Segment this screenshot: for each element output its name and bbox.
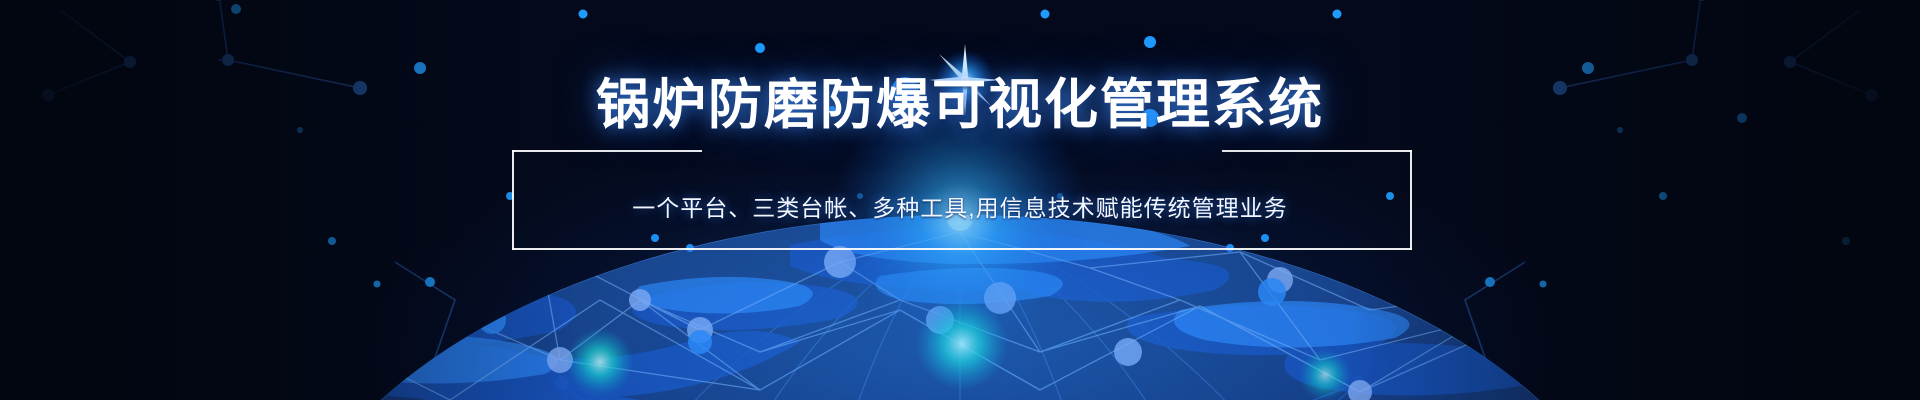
hero-banner: 锅炉防磨防爆可视化管理系统 一个平台、三类台帐、多种工具,用信息技术赋能传统管理… <box>0 0 1920 400</box>
banner-title: 锅炉防磨防爆可视化管理系统 <box>0 78 1920 132</box>
banner-subtitle: 一个平台、三类台帐、多种工具,用信息技术赋能传统管理业务 <box>0 197 1920 220</box>
